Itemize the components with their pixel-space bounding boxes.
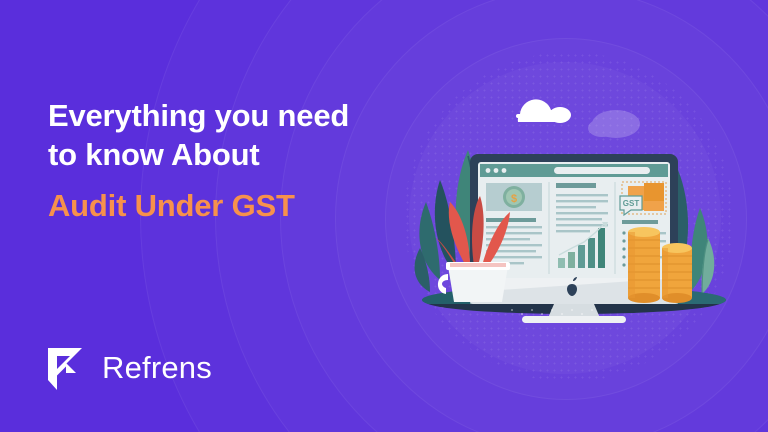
- gst-audit-banner: Everything you need to know About Audit …: [0, 0, 768, 432]
- brand-logo[interactable]: Refrens: [44, 344, 212, 390]
- coin-stack-short: [662, 243, 692, 303]
- headline-line-1: Everything you need: [48, 98, 349, 133]
- brand-logo-text: Refrens: [102, 352, 212, 383]
- svg-text:$: $: [511, 193, 517, 205]
- gst-tag-label: GST: [623, 199, 640, 208]
- headline-accent-line: Audit Under GST: [48, 186, 448, 225]
- desktop-computer-gst-audit-illustration: $: [404, 52, 744, 342]
- cloud-shadow-icon: [588, 110, 640, 138]
- headline-block: Everything you need to know About Audit …: [48, 96, 448, 225]
- headline-line-2: to know About: [48, 137, 259, 172]
- page-title: Everything you need to know About Audit …: [48, 96, 448, 225]
- cloud-icon: [516, 99, 571, 123]
- coin-stack-tall: [628, 227, 660, 303]
- refrens-r-mark-icon: [44, 344, 90, 390]
